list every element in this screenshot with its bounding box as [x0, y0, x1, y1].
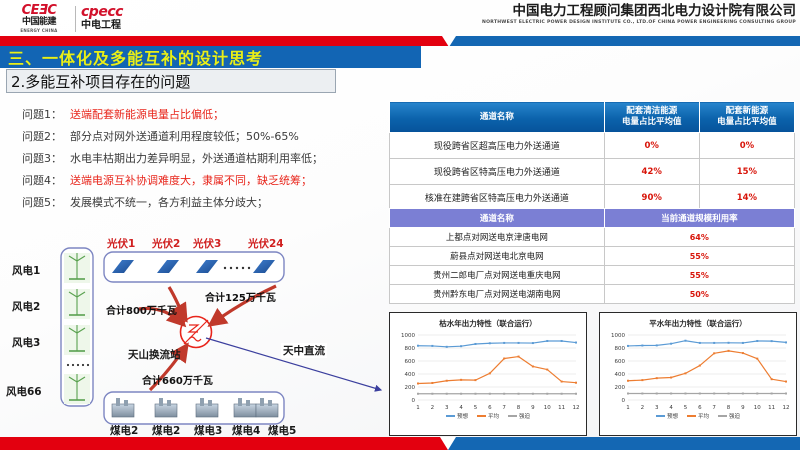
- section-subtitle-box: 2.多能互补项目存在的问题: [6, 69, 336, 93]
- svg-text:11: 11: [558, 405, 565, 411]
- coal-label-2: 煤电2: [152, 423, 180, 438]
- channel-clean-energy-table: 通道名称 配套清洁能源 电量占比平均值 配套新能源 电量占比平均值 现役跨省区超…: [389, 101, 795, 211]
- pv-label-1: 光伏1: [107, 236, 135, 251]
- pv-label-2: 光伏2: [152, 236, 180, 251]
- column-header-clean-share-line2: 电量占比平均值: [607, 117, 697, 128]
- cell-new-share: 0%: [699, 133, 794, 159]
- chart-plot-area: 02004006008001000123456789101112: [392, 331, 582, 411]
- list-item: 问题2： 部分点对网外送通道利用程度较低；50%-65%: [22, 128, 382, 150]
- column-header-new-share-line2: 电量占比平均值: [702, 117, 792, 128]
- svg-text:1000: 1000: [611, 333, 625, 339]
- wind-capacity-total: 合计800万千瓦: [106, 302, 177, 317]
- legend-item: 强迫: [508, 412, 530, 420]
- cell-new-share: 14%: [699, 185, 794, 211]
- footer-bar-red: [0, 437, 448, 450]
- table-row: 现役跨省区超高压电力外送通道 0% 0%: [390, 133, 795, 159]
- list-item: 问题3： 水电丰枯期出力差异明显，外送通道枯期利用率低；: [22, 150, 382, 172]
- cell-utilization: 64%: [604, 228, 794, 247]
- legend-item: 平均: [687, 412, 709, 420]
- chart-dry-year: 枯水年出力特性（联合运行） 02004006008001000123456789…: [389, 312, 587, 436]
- organization-name-cn: 中国电力工程顾问集团西北电力设计院有限公司: [482, 3, 796, 19]
- legend-label: 预想: [667, 412, 678, 420]
- wind-label-1: 风电1: [12, 263, 40, 278]
- header-bar-notch-icon: [442, 36, 456, 47]
- coal-label-5: 煤电5: [268, 423, 296, 438]
- problem-text: 送端电源互补协调难度大，隶属不同，缺乏统筹；: [70, 172, 312, 188]
- legend-item: 预想: [446, 412, 468, 420]
- column-header-channel: 通道名称: [390, 209, 605, 228]
- chart-normal-year: 平水年出力特性（联合运行） 02004006008001000123456789…: [599, 312, 797, 436]
- logo-cpecc: cpecc 中电工程: [81, 5, 123, 32]
- logo-energy-china-cn: 中国能建: [8, 17, 70, 28]
- svg-text:10: 10: [754, 405, 761, 411]
- svg-text:11: 11: [768, 405, 775, 411]
- table-row: 现役跨省区特高压电力外送通道 42% 15%: [390, 159, 795, 185]
- pv-capacity-total: 合计125万千瓦: [205, 289, 276, 304]
- svg-text:8: 8: [727, 405, 731, 411]
- column-header-utilization: 当前通道规模利用率: [604, 209, 794, 228]
- cell-utilization: 55%: [604, 247, 794, 266]
- svg-text:8: 8: [517, 405, 521, 411]
- table-row: 贵州黔东电厂点对网送电湖南电网 50%: [390, 285, 795, 304]
- pv-label-24: 光伏24: [248, 236, 284, 251]
- page-subtitle: 2.多能互补项目存在的问题: [7, 71, 190, 92]
- legend-label: 平均: [488, 412, 499, 420]
- svg-text:0: 0: [622, 398, 626, 404]
- svg-text:800: 800: [405, 346, 416, 352]
- table-row: 上都点对网送电京津唐电网 64%: [390, 228, 795, 247]
- table-row: 贵州二郎电厂点对网送电重庆电网 55%: [390, 266, 795, 285]
- svg-text:5: 5: [474, 405, 478, 411]
- problem-list: 问题1： 送端配套新能源电量占比偏低； 问题2： 部分点对网外送通道利用程度较低…: [22, 106, 382, 216]
- svg-text:7: 7: [502, 405, 506, 411]
- svg-text:0: 0: [412, 398, 416, 404]
- svg-text:1: 1: [626, 405, 630, 411]
- cell-channel-name: 现役跨省区特高压电力外送通道: [390, 159, 605, 185]
- cell-channel-name: 贵州黔东电厂点对网送电湖南电网: [390, 285, 605, 304]
- logo-energy-china-en: ENERGY CHINA: [8, 28, 70, 34]
- column-header-clean-share-line1: 配套清洁能源: [607, 106, 697, 117]
- coal-label-3: 煤电3: [194, 423, 222, 438]
- svg-text:4: 4: [669, 405, 673, 411]
- converter-station-label: 天山换流站: [128, 347, 181, 362]
- wind-label-2: 风电2: [12, 299, 40, 314]
- svg-text:7: 7: [712, 405, 716, 411]
- logo-ceec-mark: CEƎC: [8, 4, 70, 17]
- page-title: 三、一体化及多能互补的设计思考: [0, 45, 263, 69]
- section-title-band: 三、一体化及多能互补的设计思考: [0, 46, 421, 68]
- organization-name-en: NORTHWEST ELECTRIC POWER DESIGN INSTITUT…: [482, 19, 796, 27]
- legend-item: 强迫: [718, 412, 740, 420]
- cell-channel-name: 核准在建跨省区特高压电力外送通道: [390, 185, 605, 211]
- svg-text:200: 200: [405, 385, 416, 391]
- table-header-row: 通道名称 当前通道规模利用率: [390, 209, 795, 228]
- cell-clean-share: 90%: [604, 185, 699, 211]
- cell-utilization: 55%: [604, 266, 794, 285]
- cell-channel-name: 上都点对网送电京津唐电网: [390, 228, 605, 247]
- logo-cpecc-cn: 中电工程: [81, 20, 123, 32]
- legend-label: 平均: [698, 412, 709, 420]
- table-row: 核准在建跨省区特高压电力外送通道 90% 14%: [390, 185, 795, 211]
- logo-cpecc-mark: cpecc: [81, 5, 123, 20]
- cell-channel-name: 蔚县点对网送电北京电网: [390, 247, 605, 266]
- pv-label-3: 光伏3: [193, 236, 221, 251]
- svg-text:2: 2: [431, 405, 435, 411]
- cell-channel-name: 贵州二郎电厂点对网送电重庆电网: [390, 266, 605, 285]
- table-row: 蔚县点对网送电北京电网 55%: [390, 247, 795, 266]
- column-header-clean-share: 配套清洁能源 电量占比平均值: [604, 102, 699, 133]
- chart-legend: 预想 平均 强迫: [600, 412, 796, 420]
- problem-text: 部分点对网外送通道利用程度较低；50%-65%: [70, 128, 299, 144]
- list-item: 问题4： 送端电源互补协调难度大，隶属不同，缺乏统筹；: [22, 172, 382, 194]
- svg-text:2: 2: [641, 405, 645, 411]
- cell-channel-name: 现役跨省区超高压电力外送通道: [390, 133, 605, 159]
- dc-line-label: 天中直流: [281, 343, 327, 358]
- column-header-channel: 通道名称: [390, 102, 605, 133]
- coal-label-1: 煤电2: [110, 423, 138, 438]
- problem-text: 发展模式不统一，各方利益主体分歧大；: [70, 194, 268, 210]
- problem-text: 水电丰枯期出力差异明显，外送通道枯期利用率低；: [70, 150, 323, 166]
- logo-energy-china: CEƎC 中国能建 ENERGY CHINA: [8, 4, 70, 34]
- svg-text:400: 400: [405, 372, 416, 378]
- legend-label: 强迫: [729, 412, 740, 420]
- diagram-svg: [0, 232, 386, 432]
- chart-title: 枯水年出力特性（联合运行）: [390, 313, 586, 329]
- footer-bar-blue: [448, 437, 800, 450]
- legend-label: 强迫: [519, 412, 530, 420]
- footer-accent-bar: [0, 437, 800, 450]
- svg-text:6: 6: [698, 405, 702, 411]
- problem-label: 问题5：: [22, 194, 70, 210]
- footer-bar-notch-icon: [440, 437, 456, 450]
- svg-text:12: 12: [783, 405, 790, 411]
- wind-label-3: 风电3: [12, 335, 40, 350]
- svg-text:9: 9: [741, 405, 745, 411]
- svg-text:6: 6: [488, 405, 492, 411]
- power-system-diagram: 风电1 风电2 风电3 风电66 光伏1 光伏2 光伏3 光伏24 煤电2 煤电…: [0, 232, 386, 432]
- wind-label-66: 风电66: [6, 384, 42, 399]
- svg-text:200: 200: [615, 385, 626, 391]
- problem-label: 问题3：: [22, 150, 70, 166]
- column-header-new-share: 配套新能源 电量占比平均值: [699, 102, 794, 133]
- svg-text:3: 3: [655, 405, 659, 411]
- svg-text:10: 10: [544, 405, 551, 411]
- problem-label: 问题4：: [22, 172, 70, 188]
- problem-text: 送端配套新能源电量占比偏低；: [70, 106, 224, 122]
- svg-text:600: 600: [405, 359, 416, 365]
- channel-utilization-table: 通道名称 当前通道规模利用率 上都点对网送电京津唐电网 64% 蔚县点对网送电北…: [389, 208, 795, 304]
- table-header-row: 通道名称 配套清洁能源 电量占比平均值 配套新能源 电量占比平均值: [390, 102, 795, 133]
- chart-title: 平水年出力特性（联合运行）: [600, 313, 796, 329]
- coal-capacity-total: 合计660万千瓦: [142, 372, 213, 387]
- column-header-new-share-line1: 配套新能源: [702, 106, 792, 117]
- svg-text:3: 3: [445, 405, 449, 411]
- company-logo: CEƎC 中国能建 ENERGY CHINA cpecc 中电工程: [8, 2, 140, 35]
- legend-label: 预想: [457, 412, 468, 420]
- svg-text:1: 1: [416, 405, 420, 411]
- cell-clean-share: 42%: [604, 159, 699, 185]
- slide-canvas: CEƎC 中国能建 ENERGY CHINA cpecc 中电工程 中国电力工程…: [0, 0, 800, 450]
- logo-divider: [75, 6, 76, 32]
- svg-text:1000: 1000: [401, 333, 415, 339]
- svg-text:9: 9: [531, 405, 535, 411]
- coal-label-4: 煤电4: [232, 423, 260, 438]
- chart-plot-area: 02004006008001000123456789101112: [602, 331, 792, 411]
- problem-label: 问题1：: [22, 106, 70, 122]
- svg-text:400: 400: [615, 372, 626, 378]
- organization-name: 中国电力工程顾问集团西北电力设计院有限公司 NORTHWEST ELECTRIC…: [482, 3, 796, 27]
- svg-text:4: 4: [459, 405, 463, 411]
- list-item: 问题5： 发展模式不统一，各方利益主体分歧大；: [22, 194, 382, 216]
- chart-legend: 预想 平均 强迫: [390, 412, 586, 420]
- legend-item: 平均: [477, 412, 499, 420]
- header-bar-blue: [448, 36, 800, 46]
- cell-clean-share: 0%: [604, 133, 699, 159]
- svg-text:600: 600: [615, 359, 626, 365]
- problem-label: 问题2：: [22, 128, 70, 144]
- cell-utilization: 50%: [604, 285, 794, 304]
- cell-new-share: 15%: [699, 159, 794, 185]
- list-item: 问题1： 送端配套新能源电量占比偏低；: [22, 106, 382, 128]
- pv-group-box: [104, 252, 284, 282]
- svg-text:800: 800: [615, 346, 626, 352]
- svg-text:5: 5: [684, 405, 688, 411]
- legend-item: 预想: [656, 412, 678, 420]
- svg-text:12: 12: [573, 405, 580, 411]
